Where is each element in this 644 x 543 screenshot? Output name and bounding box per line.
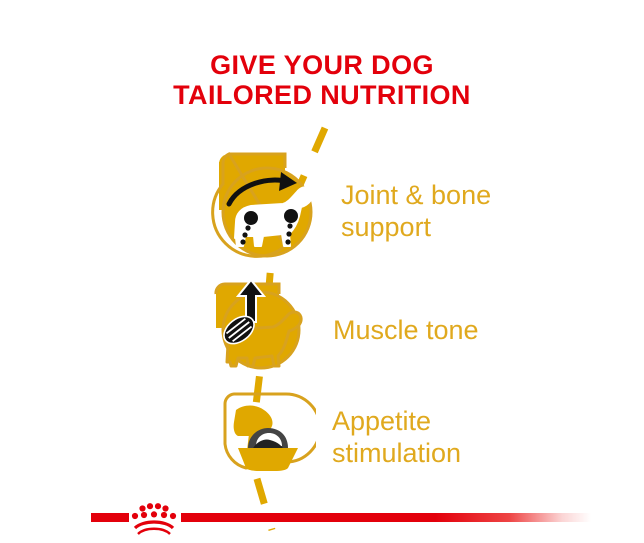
feature-label-muscle-tone: Muscle tone	[333, 315, 479, 347]
promo-banner: GIVE YOUR DOG TAILORED NUTRITION	[0, 0, 644, 543]
feature-label-appetite: Appetite stimulation	[332, 406, 461, 470]
footer-bar-left	[91, 513, 129, 522]
feature-label-joint-bone: Joint & bone support	[341, 180, 491, 244]
headline-line-2: TAILORED NUTRITION	[0, 80, 644, 110]
feature-item-joint-bone: Joint & bone support	[205, 150, 491, 273]
bowl-appetite-icon	[212, 388, 316, 487]
feature-item-muscle-tone: Muscle tone	[205, 278, 479, 383]
dog-muscle-tone-icon	[205, 278, 317, 383]
dog-joint-support-icon	[205, 150, 325, 273]
headline-line-1: GIVE YOUR DOG	[0, 50, 644, 80]
footer-bar-right	[181, 513, 591, 522]
royal-canin-crown-icon	[129, 498, 179, 538]
brand-footer	[0, 498, 644, 543]
feature-item-appetite: Appetite stimulation	[212, 388, 461, 487]
page-title: GIVE YOUR DOG TAILORED NUTRITION	[0, 50, 644, 110]
